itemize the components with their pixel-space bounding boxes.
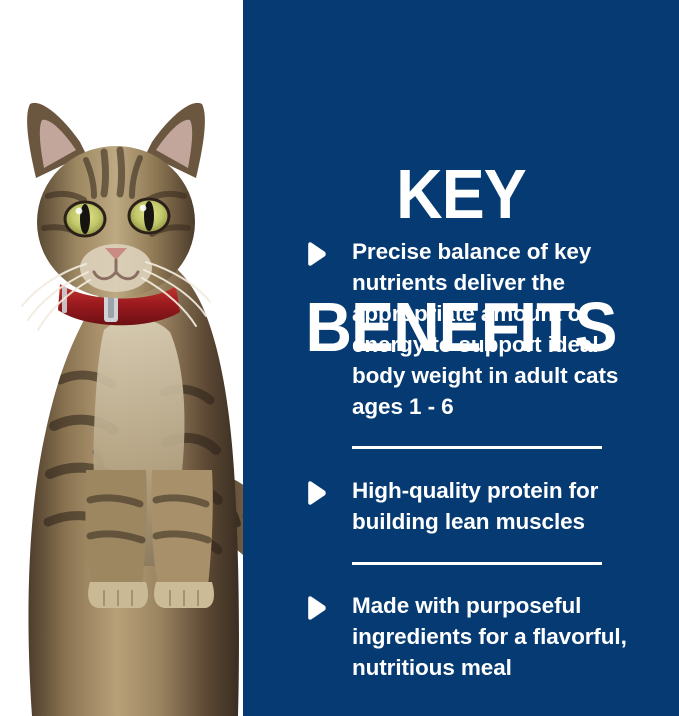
benefit-list-item: Precise balance of key nutrients deliver… [243, 236, 679, 422]
key-benefits-promo-card: KEY BENEFITS Precise balance of key nutr… [0, 0, 679, 716]
page-title-line-1: KEY [260, 161, 661, 228]
key-benefits-panel: KEY BENEFITS Precise balance of key nutr… [243, 0, 679, 716]
benefit-text: Precise balance of key nutrients deliver… [352, 236, 635, 422]
triangle-right-icon [305, 242, 327, 266]
benefit-list: Precise balance of key nutrients deliver… [243, 236, 679, 683]
triangle-right-icon [305, 596, 327, 620]
product-photo-panel [0, 0, 243, 716]
benefit-text: Made with purposeful ingredients for a f… [352, 590, 635, 683]
benefit-list-item: High-quality protein for building lean m… [243, 475, 679, 537]
cat-photo [0, 0, 243, 716]
triangle-right-icon [305, 481, 327, 505]
benefit-text: High-quality protein for building lean m… [352, 475, 635, 537]
benefit-list-item: Made with purposeful ingredients for a f… [243, 590, 679, 683]
